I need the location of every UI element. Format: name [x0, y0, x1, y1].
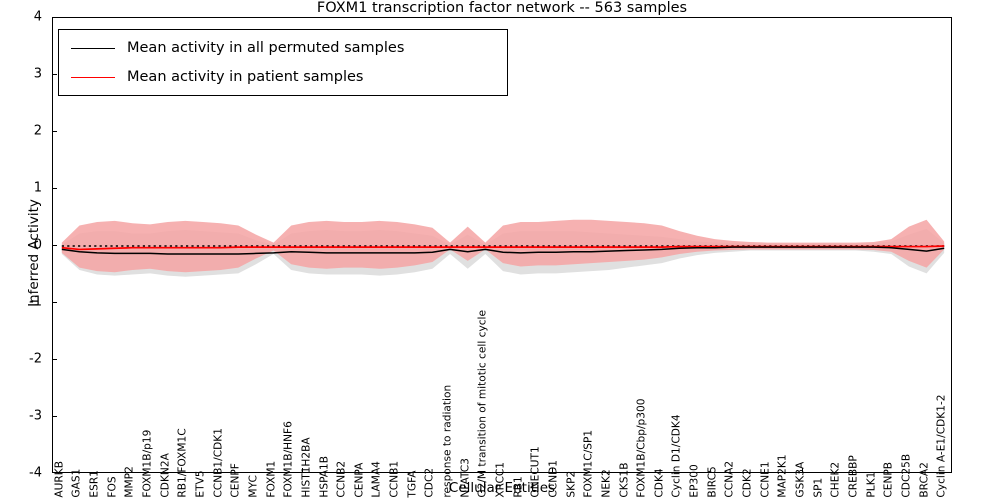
y-tick-mark	[52, 416, 57, 417]
x-tick-label: G2/M transition of mitotic cell cycle	[478, 310, 489, 498]
y-tick-label: 4	[4, 10, 42, 25]
legend-swatch-permuted	[71, 48, 115, 49]
legend-label-patient: Mean activity in patient samples	[127, 69, 363, 85]
y-tick-label: 3	[4, 67, 42, 82]
legend-item-patient: Mean activity in patient samples	[59, 63, 507, 91]
y-tick-mark	[52, 359, 57, 360]
legend-item-permuted: Mean activity in all permuted samples	[59, 34, 507, 62]
legend-swatch-patient	[71, 77, 115, 78]
y-tick-mark	[52, 245, 57, 246]
legend-label-permuted: Mean activity in all permuted samples	[127, 40, 404, 56]
y-tick-mark	[52, 188, 57, 189]
figure: FOXM1 transcription factor network -- 56…	[0, 0, 1000, 500]
y-tick-label: -4	[4, 466, 42, 481]
x-tick-mark	[52, 468, 53, 473]
y-tick-label: -1	[4, 295, 42, 310]
x-tick-mark	[802, 468, 803, 473]
page-title: FOXM1 transcription factor network -- 56…	[52, 0, 952, 17]
y-tick-label: 0	[4, 238, 42, 253]
x-axis-title: Cellular Entities	[52, 480, 952, 496]
y-tick-mark	[52, 302, 57, 303]
y-tick-mark	[52, 131, 57, 132]
y-tick-label: -2	[4, 352, 42, 367]
legend: Mean activity in all permuted samples Me…	[58, 29, 508, 96]
y-tick-label: -3	[4, 409, 42, 424]
x-tick-mark	[302, 468, 303, 473]
x-tick-mark	[552, 468, 553, 473]
y-tick-mark	[52, 74, 57, 75]
y-tick-label: 1	[4, 181, 42, 196]
y-tick-label: 2	[4, 124, 42, 139]
